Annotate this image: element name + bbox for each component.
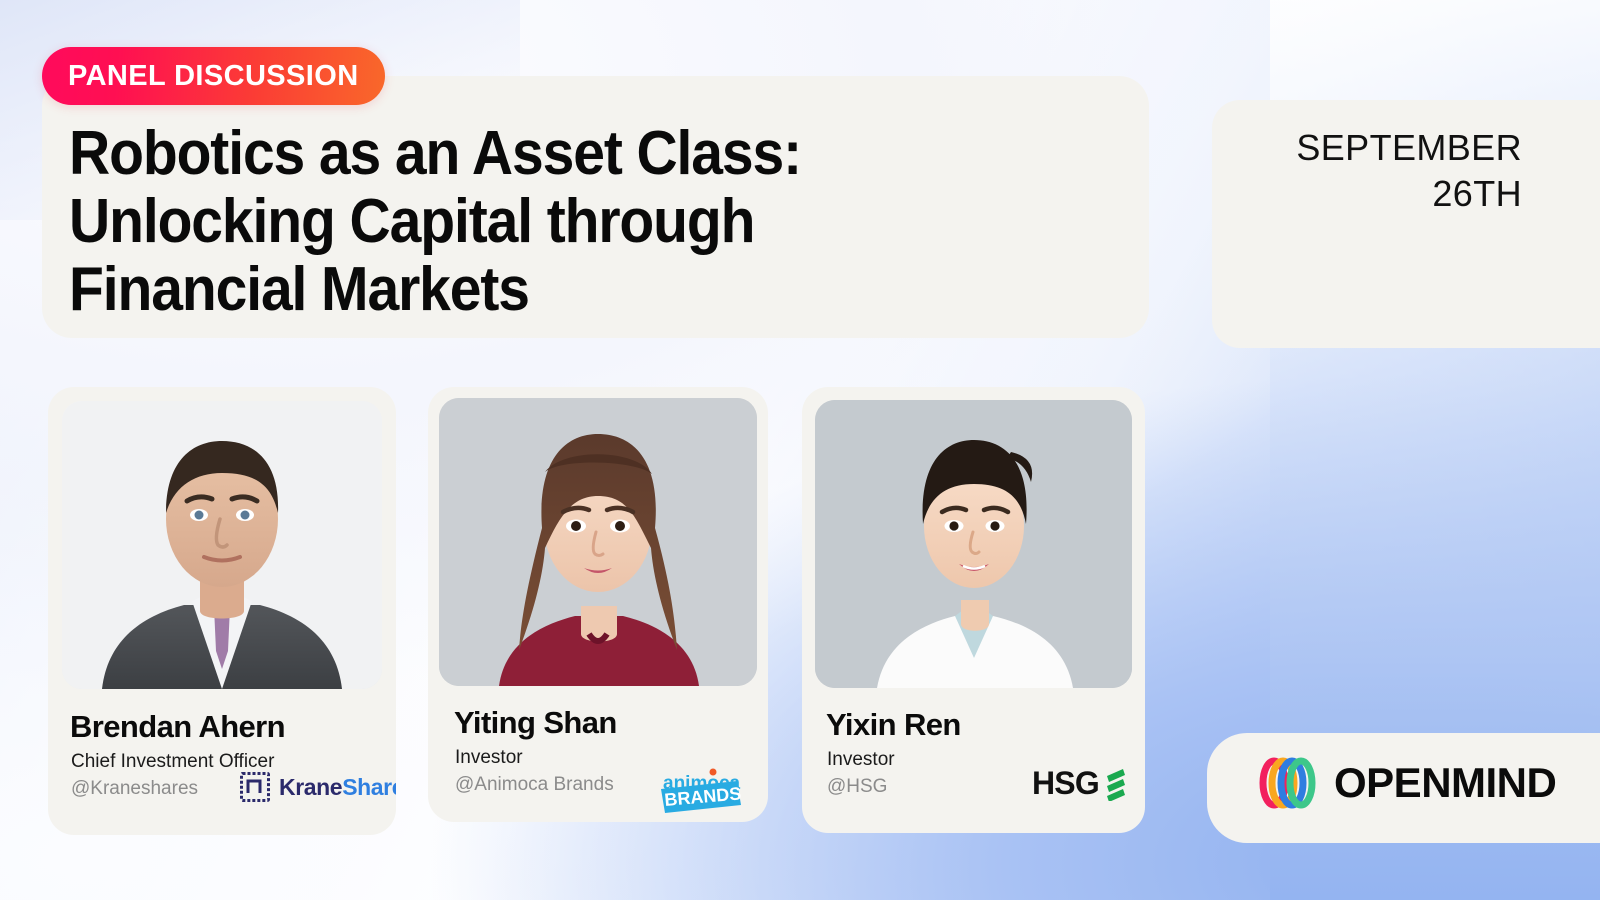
speaker-handle: @Animoca Brands <box>455 774 614 796</box>
page-title: Robotics as an Asset Class: Unlocking Ca… <box>69 120 1044 324</box>
speaker-photo <box>439 398 757 686</box>
title-line-2: Unlocking Capital through <box>69 188 1044 256</box>
hsg-logo: HSG <box>1032 765 1127 802</box>
speaker-photo <box>815 400 1132 688</box>
speaker-name: Yiting Shan <box>454 705 617 741</box>
date-day: 26TH <box>1212 171 1522 217</box>
animoca-brands-mark-icon: animoca BRANDS <box>657 759 741 815</box>
hsg-leaf-icon <box>1105 767 1127 801</box>
speaker-handle: @Kraneshares <box>71 778 198 800</box>
speaker-name: Brendan Ahern <box>70 709 285 745</box>
badge-label: PANEL DISCUSSION <box>68 60 359 93</box>
event-date: SEPTEMBER 26TH <box>1212 125 1522 217</box>
speaker-handle: @HSG <box>827 776 887 798</box>
speaker-name: Yixin Ren <box>826 707 961 743</box>
kraneshares-logo: KraneShares™ <box>240 772 396 802</box>
speaker-card-yixin-ren: Yixin Ren Investor @HSG HSG <box>802 387 1145 833</box>
kraneshares-word-2: Shares <box>342 774 396 800</box>
date-month: SEPTEMBER <box>1212 125 1522 171</box>
speaker-role: Investor <box>827 749 895 771</box>
hsg-wordmark: HSG <box>1032 765 1099 802</box>
poster-stage: PANEL DISCUSSION Robotics as an Asset Cl… <box>0 0 1600 900</box>
speaker-role: Chief Investment Officer <box>71 751 274 773</box>
panel-discussion-badge: PANEL DISCUSSION <box>42 47 385 105</box>
animoca-brands-logo: animoca BRANDS <box>657 759 741 820</box>
title-line-1: Robotics as an Asset Class: <box>69 120 1044 188</box>
openmind-rings-icon <box>1258 757 1316 809</box>
speaker-card-yiting-shan: Yiting Shan Investor @Animoca Brands ani… <box>428 387 768 822</box>
speaker-role: Investor <box>455 747 523 769</box>
speaker-photo <box>62 401 382 689</box>
openmind-logo: OPENMIND <box>1258 757 1556 809</box>
speaker-card-brendan-ahern: Brendan Ahern Chief Investment Officer @… <box>48 387 396 835</box>
kraneshares-word-1: Krane <box>279 774 342 800</box>
kraneshares-mark-icon <box>240 772 270 802</box>
title-line-3: Financial Markets <box>69 256 1044 324</box>
openmind-wordmark: OPENMIND <box>1334 759 1556 807</box>
